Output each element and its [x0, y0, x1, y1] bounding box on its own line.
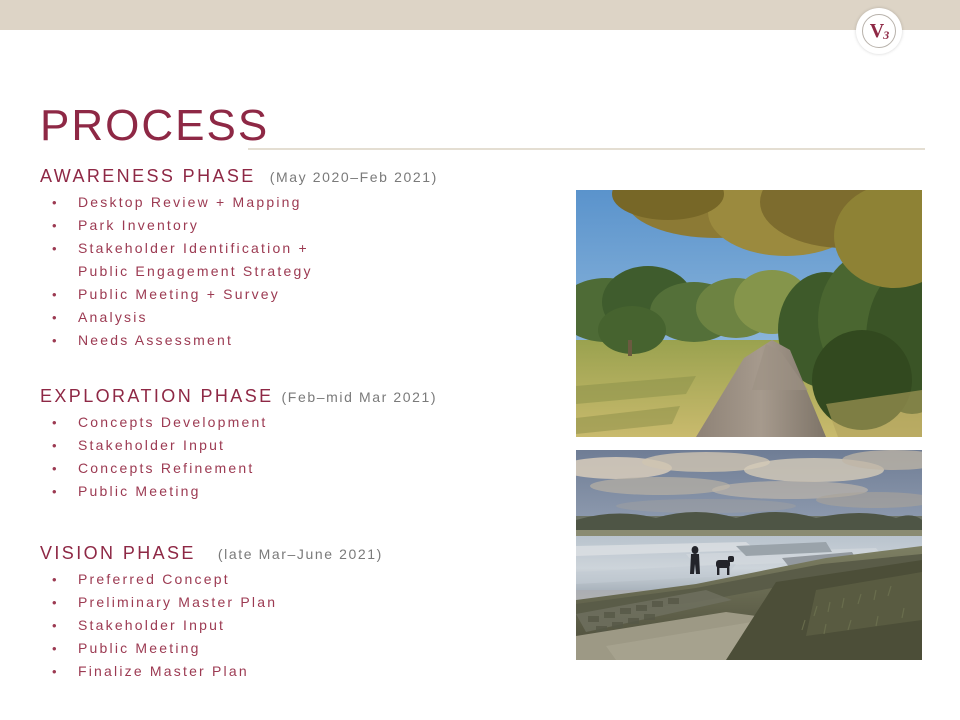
page-title: PROCESS	[40, 104, 269, 148]
logo-letter: V	[870, 21, 883, 41]
phase-date: (Feb–mid Mar 2021)	[282, 389, 438, 405]
phase-name: AWARENESS PHASE	[40, 166, 256, 187]
list-item: Stakeholder Identification +	[40, 237, 570, 260]
logo-monogram: V3	[862, 14, 896, 48]
phase-date: (May 2020–Feb 2021)	[270, 169, 438, 185]
list-item: Needs Assessment	[40, 329, 570, 352]
phases-list: AWARENESS PHASE (May 2020–Feb 2021) Desk…	[40, 166, 570, 683]
phase-bullets: Preferred Concept Preliminary Master Pla…	[40, 568, 570, 683]
phase-bullets: Concepts Development Stakeholder Input C…	[40, 411, 570, 503]
top-accent-bar	[0, 0, 960, 30]
phase-name: VISION PHASE	[40, 543, 196, 564]
phase-date: (late Mar–June 2021)	[218, 546, 383, 562]
title-divider	[248, 148, 925, 150]
list-item: Concepts Development	[40, 411, 570, 434]
list-item: Stakeholder Input	[40, 614, 570, 637]
phase-heading: EXPLORATION PHASE (Feb–mid Mar 2021)	[40, 386, 570, 407]
list-item: Finalize Master Plan	[40, 660, 570, 683]
list-item-continuation: Public Engagement Strategy	[40, 260, 570, 283]
phase-heading: VISION PHASE (late Mar–June 2021)	[40, 543, 570, 564]
phase-awareness: AWARENESS PHASE (May 2020–Feb 2021) Desk…	[40, 166, 570, 352]
phase-name: EXPLORATION PHASE	[40, 386, 274, 407]
phase-heading: AWARENESS PHASE (May 2020–Feb 2021)	[40, 166, 570, 187]
list-item: Concepts Refinement	[40, 457, 570, 480]
v3-logo: V3	[856, 8, 904, 56]
list-item: Preliminary Master Plan	[40, 591, 570, 614]
list-item: Park Inventory	[40, 214, 570, 237]
logo-sub: 3	[883, 29, 888, 41]
park-path-photo	[576, 190, 922, 437]
park-path-illustration	[576, 190, 922, 437]
list-item: Stakeholder Input	[40, 434, 570, 457]
list-item: Preferred Concept	[40, 568, 570, 591]
list-item: Analysis	[40, 306, 570, 329]
phase-spacer	[40, 352, 570, 386]
phase-exploration: EXPLORATION PHASE (Feb–mid Mar 2021) Con…	[40, 386, 570, 503]
list-item: Desktop Review + Mapping	[40, 191, 570, 214]
phase-bullets: Desktop Review + Mapping Park Inventory …	[40, 191, 570, 352]
riverbank-dusk-photo	[576, 450, 922, 660]
riverbank-illustration	[576, 450, 922, 660]
list-item: Public Meeting	[40, 637, 570, 660]
phase-vision: VISION PHASE (late Mar–June 2021) Prefer…	[40, 543, 570, 683]
phase-spacer	[40, 503, 570, 543]
list-item: Public Meeting	[40, 480, 570, 503]
list-item: Public Meeting + Survey	[40, 283, 570, 306]
